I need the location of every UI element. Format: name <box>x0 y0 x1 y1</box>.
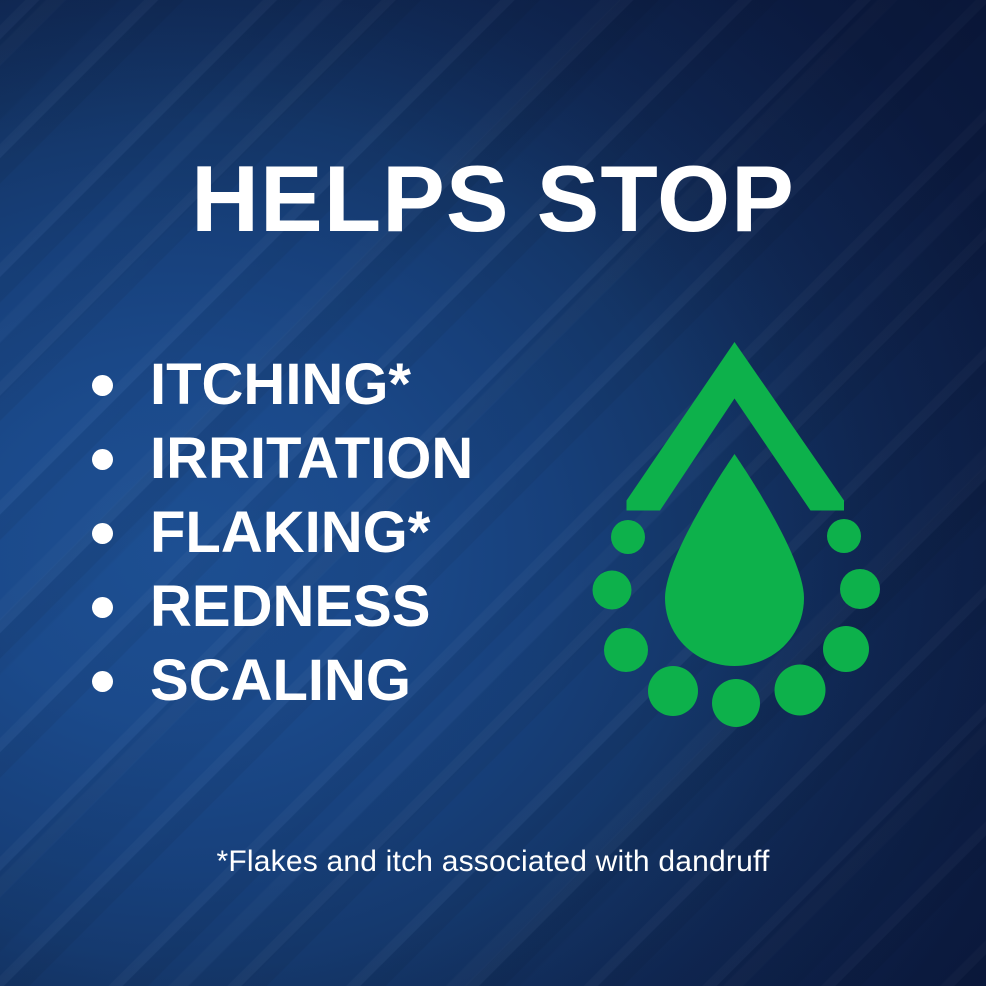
flake-dot-icon <box>593 571 632 610</box>
flake-dot-icon <box>840 569 880 609</box>
flake-dot-icon <box>823 626 869 672</box>
page-title: HELPS STOP <box>0 152 986 246</box>
benefit-label: ITCHING* <box>150 356 411 414</box>
flake-dot-icon <box>775 665 826 716</box>
benefit-label: SCALING <box>150 652 411 710</box>
water-droplet-icon <box>665 454 804 666</box>
list-item: FLAKING* <box>92 496 473 570</box>
flake-dot-icon <box>611 520 645 554</box>
list-item: REDNESS <box>92 570 473 644</box>
bullet-dot-icon <box>92 597 113 618</box>
flake-dot-icon <box>712 679 760 727</box>
flake-dot-icon <box>604 628 648 672</box>
benefit-label: REDNESS <box>150 578 430 636</box>
list-item: IRRITATION <box>92 422 473 496</box>
footnote-disclaimer: *Flakes and itch associated with dandruf… <box>0 845 986 879</box>
benefit-label: FLAKING* <box>150 504 430 562</box>
bullet-dot-icon <box>92 523 113 544</box>
list-item: SCALING <box>92 644 473 718</box>
benefits-list: ITCHING* IRRITATION FLAKING* REDNESS SCA… <box>92 348 473 718</box>
poster-canvas: HELPS STOP ITCHING* IRRITATION FLAKING* … <box>0 0 986 986</box>
benefit-label: IRRITATION <box>150 430 473 488</box>
bullet-dot-icon <box>92 449 113 470</box>
list-item: ITCHING* <box>92 348 473 422</box>
scalp-care-droplet-icon <box>582 332 902 732</box>
flake-dot-icon <box>827 519 861 553</box>
bullet-dot-icon <box>92 375 113 396</box>
flake-dot-icon <box>648 666 698 716</box>
bullet-dot-icon <box>92 671 113 692</box>
